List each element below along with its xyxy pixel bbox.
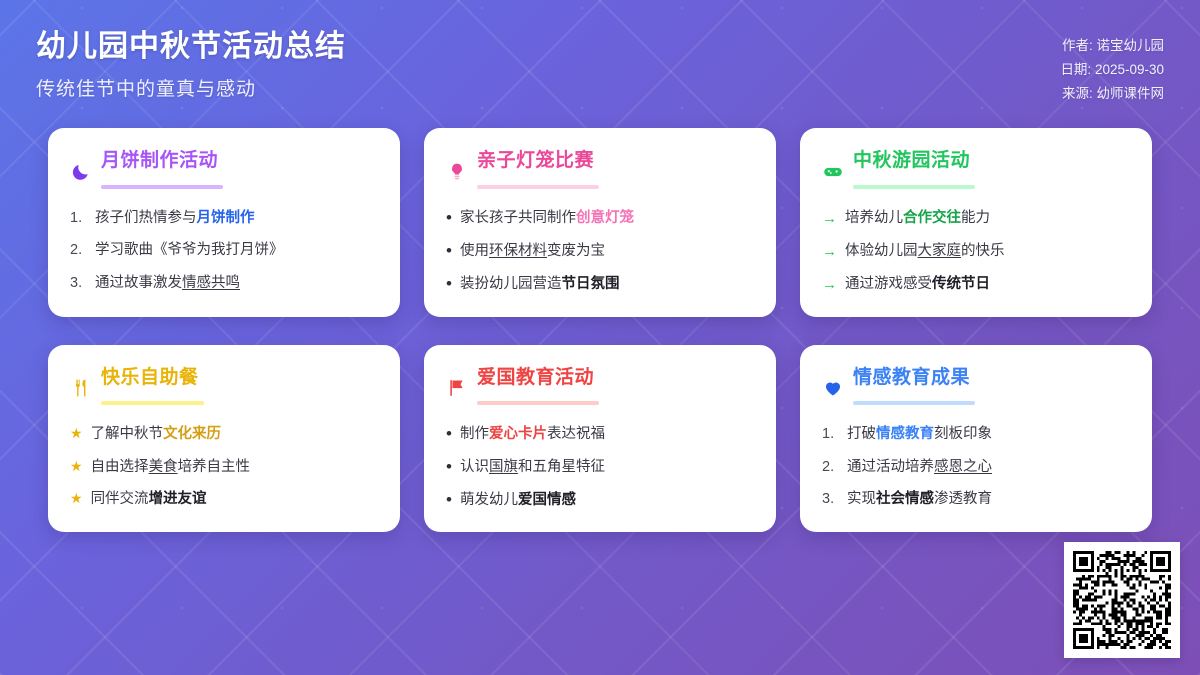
list-item-text: 通过故事激发情感共鸣 — [95, 272, 240, 294]
list-item: •制作爱心卡片表达祝福 — [446, 423, 754, 446]
list-marker-number: 1. — [822, 423, 839, 445]
list-item: ★同伴交流增进友谊 — [70, 488, 378, 510]
list-item: 2.学习歌曲《爷爷为我打月饼》 — [70, 239, 378, 261]
list-item: →体验幼儿园大家庭的快乐 — [822, 240, 1130, 263]
card-item-list: 1.打破情感教育刻板印象2.通过活动培养感恩之心3.实现社会情感渗透教育 — [822, 423, 1130, 510]
item-underline: 环保材料 — [489, 243, 547, 259]
item-bold: 社会情感 — [876, 491, 934, 507]
card-mooncake-making[interactable]: 月饼制作活动1.孩子们热情参与月饼制作2.学习歌曲《爷爷为我打月饼》3.通过故事… — [48, 128, 400, 317]
card-happy-buffet[interactable]: 快乐自助餐★了解中秋节文化来历★自由选择美食培养自主性★同伴交流增进友谊 — [48, 345, 400, 533]
list-item-text: 打破情感教育刻板印象 — [847, 423, 992, 445]
item-highlight: 月饼制作 — [197, 210, 255, 226]
card-title-underline — [101, 185, 223, 189]
list-marker-number: 3. — [70, 272, 87, 294]
arrow-icon: → — [822, 240, 837, 263]
list-item: 2.通过活动培养感恩之心 — [822, 456, 1130, 478]
list-marker-number: 3. — [822, 488, 839, 510]
card-title-underline — [477, 185, 599, 189]
card-grid: 月饼制作活动1.孩子们热情参与月饼制作2.学习歌曲《爷爷为我打月饼》3.通过故事… — [48, 128, 1152, 532]
list-item-text: 通过活动培养感恩之心 — [847, 456, 992, 478]
flag-icon — [446, 377, 468, 399]
card-header: 快乐自助餐 — [70, 367, 378, 411]
list-item: 3.通过故事激发情感共鸣 — [70, 272, 378, 294]
star-icon: ★ — [70, 456, 83, 478]
page-title: 幼儿园中秋节活动总结 — [36, 28, 346, 66]
card-title: 快乐自助餐 — [101, 367, 204, 393]
poster-header: 幼儿园中秋节活动总结 传统佳节中的童真与感动 作者: 诺宝幼儿园 日期: 202… — [0, 0, 1200, 106]
card-parent-child-lantern[interactable]: 亲子灯笼比赛•家长孩子共同制作创意灯笼•使用环保材料变废为宝•装扮幼儿园营造节日… — [424, 128, 776, 317]
list-item-text: 装扮幼儿园营造节日氛围 — [460, 273, 620, 295]
qr-code[interactable] — [1064, 542, 1180, 658]
list-item-text: 通过游戏感受传统节日 — [845, 273, 990, 295]
list-marker-number: 1. — [70, 207, 87, 229]
list-marker-bullet: • — [446, 456, 452, 479]
list-marker-bullet: • — [446, 273, 452, 296]
list-item: •萌发幼儿爱国情感 — [446, 489, 754, 512]
card-header: 情感教育成果 — [822, 367, 1130, 411]
list-item: •家长孩子共同制作创意灯笼 — [446, 207, 754, 230]
card-item-list: •制作爱心卡片表达祝福•认识国旗和五角星特征•萌发幼儿爱国情感 — [446, 423, 754, 512]
list-item-text: 家长孩子共同制作创意灯笼 — [460, 207, 634, 229]
card-title: 爱国教育活动 — [477, 367, 599, 393]
list-marker-bullet: • — [446, 489, 452, 512]
list-item: •装扮幼儿园营造节日氛围 — [446, 273, 754, 296]
header-title-block: 幼儿园中秋节活动总结 传统佳节中的童真与感动 — [36, 28, 346, 101]
list-item: 1.孩子们热情参与月饼制作 — [70, 207, 378, 229]
list-item-text: 萌发幼儿爱国情感 — [460, 489, 576, 511]
card-title: 月饼制作活动 — [101, 150, 223, 176]
list-marker-number: 2. — [822, 456, 839, 478]
page-subtitle: 传统佳节中的童真与感动 — [36, 74, 346, 101]
list-item-text: 学习歌曲《爷爷为我打月饼》 — [95, 239, 284, 261]
list-item-text: 使用环保材料变废为宝 — [460, 240, 605, 262]
card-item-list: ★了解中秋节文化来历★自由选择美食培养自主性★同伴交流增进友谊 — [70, 423, 378, 510]
card-header: 亲子灯笼比赛 — [446, 150, 754, 194]
list-item: →培养幼儿合作交往能力 — [822, 207, 1130, 230]
list-item-text: 实现社会情感渗透教育 — [847, 488, 992, 510]
item-underline: 美食 — [149, 459, 178, 475]
card-title: 情感教育成果 — [853, 367, 975, 393]
list-item-text: 制作爱心卡片表达祝福 — [460, 423, 605, 445]
star-icon: ★ — [70, 488, 83, 510]
card-mid-autumn-garden-party[interactable]: 中秋游园活动→培养幼儿合作交往能力→体验幼儿园大家庭的快乐→通过游戏感受传统节日 — [800, 128, 1152, 317]
gamepad-icon — [822, 161, 844, 183]
star-icon: ★ — [70, 423, 83, 445]
list-item: •使用环保材料变废为宝 — [446, 240, 754, 263]
card-header: 中秋游园活动 — [822, 150, 1130, 194]
qr-code-image — [1073, 551, 1171, 649]
list-marker-bullet: • — [446, 207, 452, 230]
meta-source: 来源: 幼师课件网 — [1060, 82, 1164, 106]
item-underline: 感恩之心 — [934, 459, 992, 475]
meta-date: 日期: 2025-09-30 — [1060, 58, 1164, 82]
item-bold: 增进友谊 — [149, 491, 207, 507]
card-title-underline — [853, 185, 975, 189]
list-item-text: 自由选择美食培养自主性 — [91, 456, 251, 478]
list-item-text: 体验幼儿园大家庭的快乐 — [845, 240, 1005, 262]
list-marker-bullet: • — [446, 423, 452, 446]
list-item: →通过游戏感受传统节日 — [822, 273, 1130, 296]
item-highlight: 爱心卡片 — [489, 426, 547, 442]
item-highlight: 情感教育 — [876, 426, 934, 442]
moon-icon — [70, 161, 92, 183]
meta-author: 作者: 诺宝幼儿园 — [1060, 34, 1164, 58]
list-item-text: 了解中秋节文化来历 — [91, 423, 222, 445]
card-item-list: 1.孩子们热情参与月饼制作2.学习歌曲《爷爷为我打月饼》3.通过故事激发情感共鸣 — [70, 207, 378, 294]
list-item: •认识国旗和五角星特征 — [446, 456, 754, 479]
list-item-text: 孩子们热情参与月饼制作 — [95, 207, 255, 229]
item-bold: 爱国情感 — [518, 492, 576, 508]
item-underline: 国旗 — [489, 459, 518, 475]
card-item-list: •家长孩子共同制作创意灯笼•使用环保材料变废为宝•装扮幼儿园营造节日氛围 — [446, 207, 754, 296]
card-header: 爱国教育活动 — [446, 367, 754, 411]
item-highlight: 文化来历 — [163, 426, 221, 442]
card-title: 中秋游园活动 — [853, 150, 975, 176]
list-item: ★了解中秋节文化来历 — [70, 423, 378, 445]
card-header: 月饼制作活动 — [70, 150, 378, 194]
item-bold: 节日氛围 — [561, 276, 619, 292]
card-emotional-education-results[interactable]: 情感教育成果1.打破情感教育刻板印象2.通过活动培养感恩之心3.实现社会情感渗透… — [800, 345, 1152, 533]
arrow-icon: → — [822, 273, 837, 296]
list-item-text: 同伴交流增进友谊 — [91, 488, 207, 510]
lightbulb-icon — [446, 161, 468, 183]
list-item: ★自由选择美食培养自主性 — [70, 456, 378, 478]
list-marker-number: 2. — [70, 239, 87, 261]
card-title-underline — [853, 401, 975, 405]
list-item: 1.打破情感教育刻板印象 — [822, 423, 1130, 445]
poster-root: 幼儿园中秋节活动总结 传统佳节中的童真与感动 作者: 诺宝幼儿园 日期: 202… — [0, 0, 1200, 675]
card-item-list: →培养幼儿合作交往能力→体验幼儿园大家庭的快乐→通过游戏感受传统节日 — [822, 207, 1130, 297]
list-marker-bullet: • — [446, 240, 452, 263]
list-item: 3.实现社会情感渗透教育 — [822, 488, 1130, 510]
item-bold: 传统节日 — [932, 276, 990, 292]
item-underline: 大家庭 — [918, 243, 962, 259]
item-underline: 情感共鸣 — [182, 275, 240, 291]
item-highlight: 创意灯笼 — [576, 210, 634, 226]
card-patriotic-education[interactable]: 爱国教育活动•制作爱心卡片表达祝福•认识国旗和五角星特征•萌发幼儿爱国情感 — [424, 345, 776, 533]
list-item-text: 认识国旗和五角星特征 — [460, 456, 605, 478]
card-title-underline — [101, 401, 204, 405]
card-title: 亲子灯笼比赛 — [477, 150, 599, 176]
header-meta: 作者: 诺宝幼儿园 日期: 2025-09-30 来源: 幼师课件网 — [1060, 28, 1164, 106]
card-title-underline — [477, 401, 599, 405]
arrow-icon: → — [822, 207, 837, 230]
cutlery-icon — [70, 377, 92, 399]
item-highlight: 合作交往 — [903, 210, 961, 226]
list-item-text: 培养幼儿合作交往能力 — [845, 207, 990, 229]
heart-icon — [822, 377, 844, 399]
